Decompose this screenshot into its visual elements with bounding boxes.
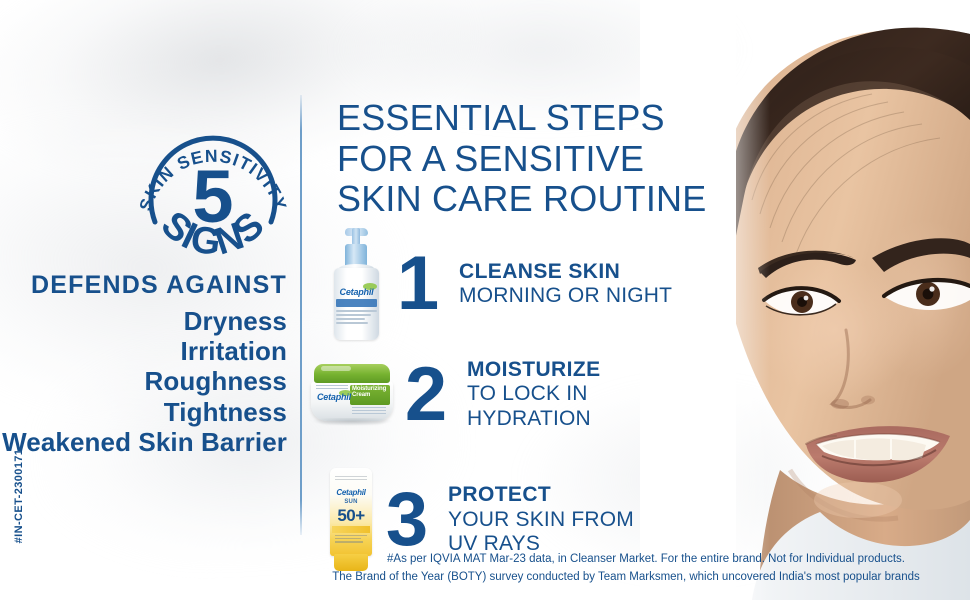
jar-shadow [311,418,393,426]
routine-step-2: Moisturizing Cream Cetaphil 2 MOISTURIZE… [309,358,601,431]
advertisement-banner: SKIN SENSITIVITY 5 SIGNS DEFENDS AGAINST… [0,0,970,600]
step-number: 3 [376,485,438,555]
fineprint-line-1: #As per IQVIA MAT Mar-23 data, in Cleans… [290,551,962,569]
step-number: 2 [395,360,457,430]
legal-fineprint: #As per IQVIA MAT Mar-23 data, in Cleans… [290,551,962,587]
step-subtitle-2: HYDRATION [467,407,601,431]
product-image-moisturizer: Moisturizing Cream Cetaphil [309,364,395,426]
pump-neck [352,228,360,245]
tube-top-text-lines [335,476,367,482]
tube-sun-label: SUN [334,499,368,505]
jar-right-text-lines [352,407,386,416]
headline-line-2: FOR A SENSITIVE [337,139,757,180]
brand-logo-text: Cetaphil [317,392,351,403]
skin-sensitivity-signs-badge: SKIN SENSITIVITY 5 SIGNS [133,118,293,278]
step-title: PROTECT [448,483,634,507]
step-subtitle: MORNING OR NIGHT [459,284,672,308]
defends-against-list: Dryness Irritation Roughness Tightness W… [0,306,291,458]
vertical-divider [300,95,302,535]
defends-against-heading: DEFENDS AGAINST [0,272,291,300]
list-item: Irritation [0,336,291,366]
list-item: Weakened Skin Barrier [0,427,291,457]
step-copy: PROTECT YOUR SKIN FROM UV RAYS [448,483,634,556]
tube-text-lines [335,535,367,545]
step-copy: CLEANSE SKIN MORNING OR NIGHT [459,260,672,309]
product-label-band [336,299,377,307]
step-copy: MOISTURIZE TO LOCK IN HYDRATION [467,358,601,431]
headline-line-1: ESSENTIAL STEPS [337,98,757,139]
page-title: ESSENTIAL STEPS FOR A SENSITIVE SKIN CAR… [337,98,757,220]
step-number: 1 [387,249,449,319]
headline-line-3: SKIN CARE ROUTINE [337,179,757,220]
step-title: CLEANSE SKIN [459,260,672,284]
product-image-cleanser: Cetaphil [325,228,387,340]
label-text-lines [336,310,377,334]
brand-logo-text: Cetaphil [337,286,376,297]
step-title: MOISTURIZE [467,358,601,382]
reference-code: #IN-CET-2300171 [13,441,25,551]
brand-logo-text: Cetaphil [333,488,369,498]
defends-against-block: DEFENDS AGAINST Dryness Irritation Rough… [0,272,291,458]
list-item: Roughness [0,366,291,396]
jar-lid-highlight [321,366,351,371]
step-subtitle: TO LOCK IN [467,382,601,406]
tube-color-band [332,526,370,533]
jar-label-text: Moisturizing Cream [352,386,388,398]
fineprint-line-2: The Brand of the Year (BOTY) survey cond… [290,569,962,587]
step-subtitle: YOUR SKIN FROM [448,508,634,532]
routine-step-1: Cetaphil 1 CLEANSE SKIN MORNING OR NIGHT [325,228,672,340]
list-item: Tightness [0,397,291,427]
model-portrait-photo [640,0,970,600]
tube-spf-value: 50+ [332,506,370,526]
list-item: Dryness [0,306,291,336]
